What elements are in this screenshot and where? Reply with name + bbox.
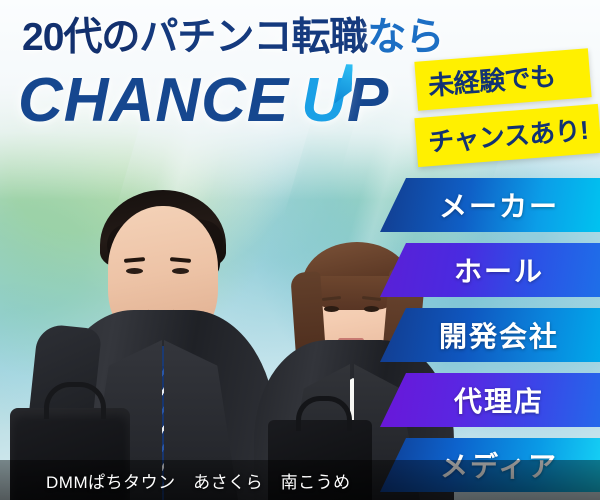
headline-part-1: 20代の	[22, 16, 139, 59]
category-button-maker[interactable]: メーカー	[380, 178, 600, 232]
logo-word-chance: CHANCE	[18, 66, 289, 135]
businessman-eye-left	[126, 268, 143, 274]
badge-chance-available: チャンスあり!	[414, 104, 600, 167]
businesswoman-eye-left	[324, 306, 339, 312]
headline-part-3: なら	[367, 16, 443, 59]
category-label-maker: メーカー	[421, 185, 559, 225]
chance-up-logo: CHANCEUP	[18, 70, 389, 132]
category-label-agency: 代理店	[436, 380, 544, 420]
businesswoman-eye-right	[364, 306, 379, 312]
badge-group: 未経験でも チャンスあり!	[416, 55, 598, 160]
logo-letter-u-text: U	[301, 66, 347, 135]
category-label-hall: ホール	[436, 250, 544, 290]
businessman-eye-right	[172, 268, 189, 274]
category-button-agency[interactable]: 代理店	[380, 373, 600, 427]
logo-word-up: UP	[301, 66, 389, 135]
credit-bar: DMMぱちタウン あさくら 南こうめ	[0, 460, 600, 500]
category-button-list: メーカー ホール 開発会社 代理店 メディア	[380, 178, 600, 500]
badge-no-experience: 未経験でも	[414, 48, 592, 111]
recruitment-banner: 20代のパチンコ転職なら CHANCEUP 未経験でも チャンスあり! メーカー…	[0, 0, 600, 500]
category-button-developer[interactable]: 開発会社	[380, 308, 600, 362]
photo-businessman	[42, 155, 282, 500]
logo-letter-u: U	[301, 70, 347, 132]
headline: 20代のパチンコ転職なら	[22, 18, 443, 57]
category-label-developer: 開発会社	[421, 315, 559, 355]
credit-text: DMMぱちタウン あさくら 南こうめ	[0, 468, 351, 493]
headline-part-2: パチンコ転職	[139, 16, 367, 59]
category-button-hall[interactable]: ホール	[380, 243, 600, 297]
logo-letter-p: P	[347, 66, 389, 135]
